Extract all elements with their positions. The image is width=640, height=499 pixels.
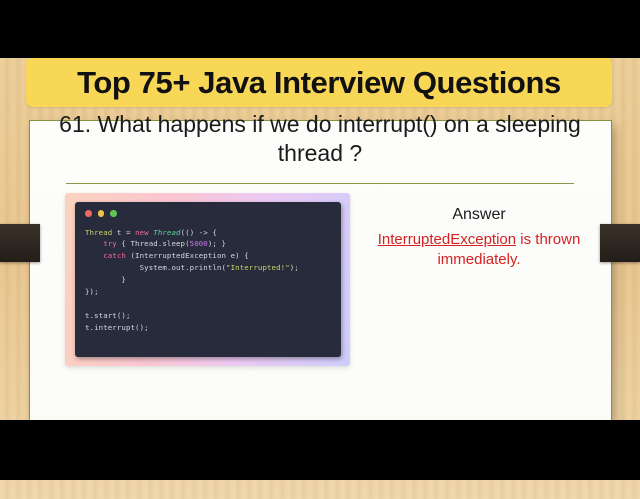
code-token-line8: t.start(); (85, 311, 131, 320)
answer-text: InterruptedException is thrown immediate… (372, 230, 586, 270)
question-text: 61. What happens if we do interrupt() on… (44, 110, 596, 169)
maximize-dot-icon (110, 210, 117, 217)
code-token-class: Thread (153, 228, 180, 237)
minimize-dot-icon (98, 210, 105, 217)
code-token-string: "Interrupted!" (226, 263, 290, 272)
code-snippet: Thread t = new Thread(() -> { try { Thre… (85, 227, 332, 335)
letterbox-bottom (0, 420, 640, 480)
code-token-try: try (103, 239, 117, 248)
answer-exception-term: InterruptedException (378, 231, 516, 248)
code-token-catch: catch (103, 251, 126, 260)
side-tab-right (600, 224, 640, 262)
code-token-line6: }); (85, 287, 99, 296)
code-token-line1-tail: (() -> { (181, 228, 217, 237)
window-traffic-lights (85, 210, 332, 217)
code-token-line2-tail: ); } (208, 239, 226, 248)
code-token-line5: } (85, 275, 126, 284)
letterbox-top (0, 0, 640, 58)
code-token-var: t = (112, 228, 135, 237)
code-token-println: System.out.println( (85, 263, 226, 272)
code-token-new: new (135, 228, 149, 237)
banner-title-text: Top 75+ Java Interview Questions (77, 67, 561, 98)
screenshot-frame: Top 75+ Java Interview Questions 61. Wha… (0, 0, 640, 480)
side-tab-left (0, 224, 40, 262)
code-indent-2 (85, 239, 103, 248)
title-banner: Top 75+ Java Interview Questions (26, 57, 612, 107)
answer-block: Answer InterruptedException is thrown im… (372, 205, 586, 269)
code-token-type: Thread (85, 228, 112, 237)
code-window: Thread t = new Thread(() -> { try { Thre… (75, 202, 341, 357)
code-token-sleep: { Thread.sleep( (117, 239, 190, 248)
close-dot-icon (85, 210, 92, 217)
code-indent-3 (85, 251, 103, 260)
code-token-line3-tail: (InterruptedException e) { (126, 251, 249, 260)
code-card-frame: Thread t = new Thread(() -> { try { Thre… (65, 193, 350, 366)
code-token-number: 5000 (190, 239, 208, 248)
code-token-line4-tail: ); (290, 263, 299, 272)
section-divider (66, 183, 574, 184)
code-token-line9: t.interrupt(); (85, 323, 149, 332)
answer-label: Answer (372, 205, 586, 226)
